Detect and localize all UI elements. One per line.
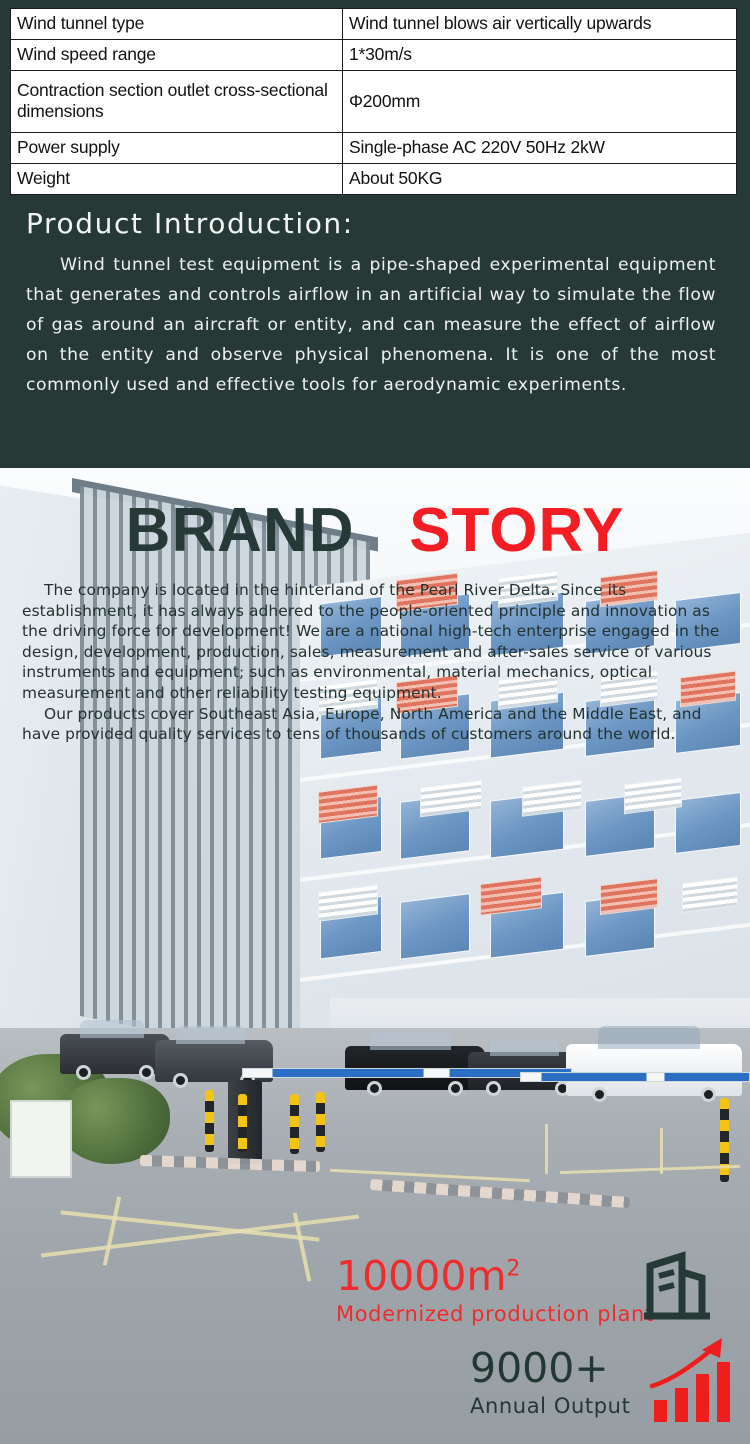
product-introduction-title: Product Introduction: xyxy=(26,207,724,240)
spec-value-cell: Wind tunnel blows air vertically upwards xyxy=(343,9,737,40)
shrub xyxy=(58,1078,170,1164)
spec-value-cell: Φ200mm xyxy=(343,71,737,133)
bollard xyxy=(205,1090,214,1152)
notice-board xyxy=(10,1100,72,1178)
brand-story-paragraph: The company is located in the hinterland… xyxy=(22,580,722,704)
table-row: Weight About 50KG xyxy=(11,164,737,195)
parked-car xyxy=(566,1044,742,1096)
bollard xyxy=(290,1094,299,1154)
brand-story-text: The company is located in the hinterland… xyxy=(0,580,750,745)
brand-title-part1: BRAND xyxy=(126,496,355,565)
specification-table: Wind tunnel type Wind tunnel blows air v… xyxy=(10,8,737,195)
page-title: BRAND STORY xyxy=(0,468,750,562)
spec-value-cell: 1*30m/s xyxy=(343,40,737,71)
table-row: Power supply Single-phase AC 220V 50Hz 2… xyxy=(11,133,737,164)
table-row: Contraction section outlet cross-section… xyxy=(11,71,737,133)
spec-label-cell: Contraction section outlet cross-section… xyxy=(11,71,343,133)
speed-bump xyxy=(140,1155,320,1172)
bollard xyxy=(316,1092,325,1152)
spec-value-cell: About 50KG xyxy=(343,164,737,195)
bollard xyxy=(720,1098,729,1182)
brand-story-paragraph: Our products cover Southeast Asia, Europ… xyxy=(22,704,722,745)
bollard xyxy=(238,1094,247,1152)
brand-story-section: BRAND STORY The company is located in th… xyxy=(0,468,750,1444)
product-introduction-body: Wind tunnel test equipment is a pipe-sha… xyxy=(26,250,724,400)
spec-label-cell: Wind speed range xyxy=(11,40,343,71)
spec-label-cell: Wind tunnel type xyxy=(11,9,343,40)
spec-label-cell: Power supply xyxy=(11,133,343,164)
spec-label-cell: Weight xyxy=(11,164,343,195)
product-introduction: Product Introduction: Wind tunnel test e… xyxy=(10,207,738,400)
product-detail-page: Wind tunnel type Wind tunnel blows air v… xyxy=(0,0,750,1444)
table-row: Wind speed range 1*30m/s xyxy=(11,40,737,71)
parking-lot-ground xyxy=(0,1028,750,1444)
spec-value-cell: Single-phase AC 220V 50Hz 2kW xyxy=(343,133,737,164)
parked-car xyxy=(60,1034,170,1074)
barrier-gate-arm xyxy=(520,1072,750,1082)
speed-bump xyxy=(370,1179,630,1208)
specification-section: Wind tunnel type Wind tunnel blows air v… xyxy=(0,0,750,468)
table-row: Wind tunnel type Wind tunnel blows air v… xyxy=(11,9,737,40)
brand-title-part2: STORY xyxy=(409,496,624,565)
